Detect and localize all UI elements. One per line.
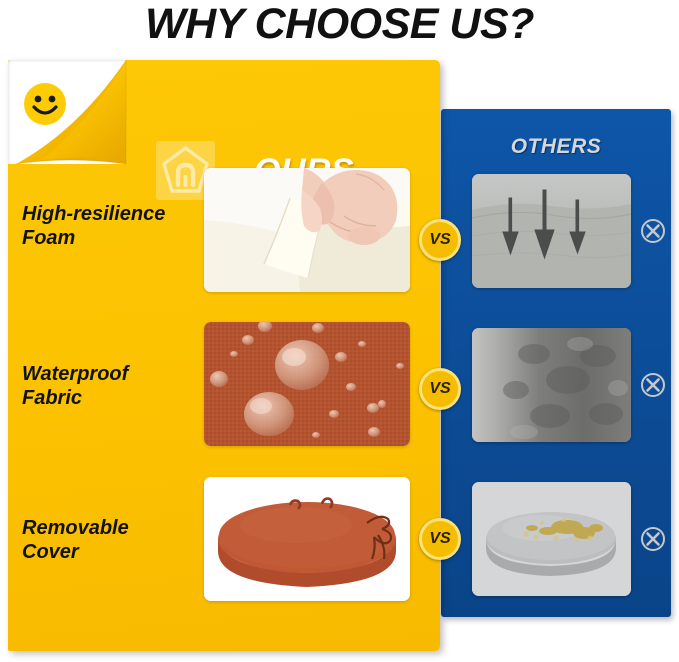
ours-image-waterproof-fabric xyxy=(204,322,410,446)
ours-image-foam xyxy=(204,168,410,292)
page-title: WHY CHOOSE US? xyxy=(0,0,679,52)
circle-x-icon-row-1 xyxy=(640,218,666,244)
circle-x-icon-row-3 xyxy=(640,526,666,552)
why-choose-us-infographic: WHY CHOOSE US? OTHERS xyxy=(0,0,679,662)
vs-badge-row-2: VS xyxy=(419,368,461,410)
others-image-flat-foam xyxy=(472,174,631,288)
others-heading: OTHERS xyxy=(441,135,671,159)
vs-badge-row-1: VS xyxy=(419,219,461,261)
others-image-soaked-fabric xyxy=(472,328,631,442)
ours-image-removable-cover xyxy=(204,477,410,601)
row-label-high-resilience-foam: High-resilience Foam xyxy=(22,203,202,250)
vs-badge-row-3: VS xyxy=(419,518,461,560)
others-image-stained-cushion xyxy=(472,482,631,596)
circle-x-icon-row-2 xyxy=(640,372,666,398)
row-label-waterproof-fabric: Waterproof Fabric xyxy=(22,363,202,410)
smiley-face-icon xyxy=(22,81,68,127)
row-label-removable-cover: Removable Cover xyxy=(22,517,202,564)
